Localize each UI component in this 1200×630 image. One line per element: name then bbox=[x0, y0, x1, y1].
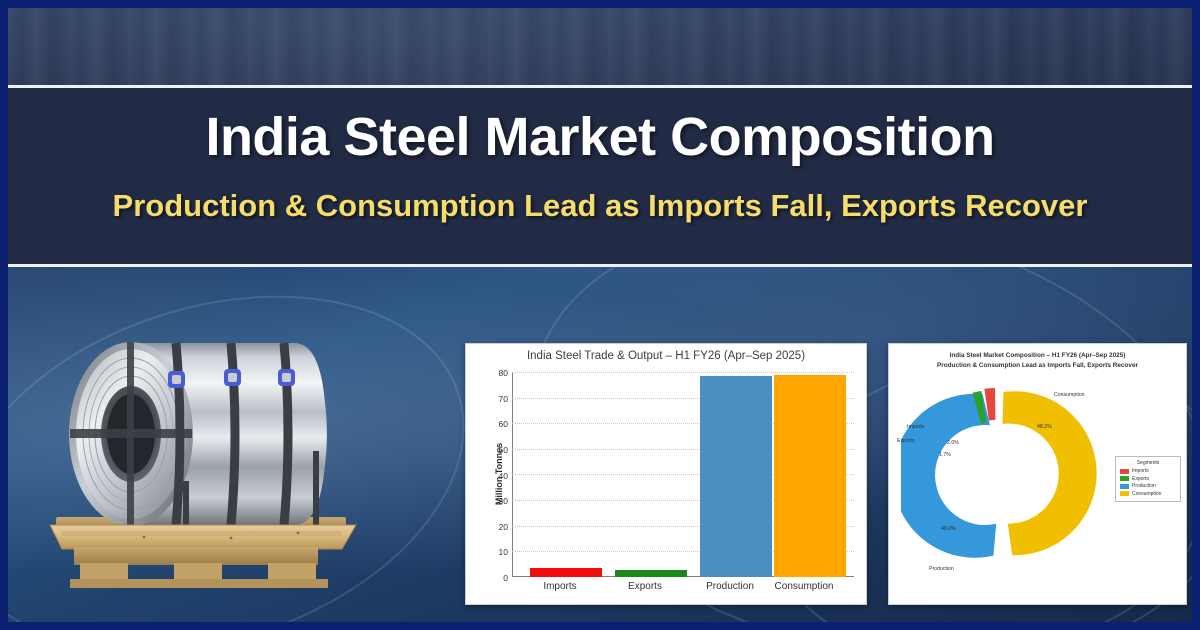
legend-label-production: Production bbox=[1132, 483, 1156, 489]
header-divider-top bbox=[8, 85, 1192, 88]
page-title: India Steel Market Composition bbox=[205, 110, 994, 164]
ytick-70: 70 bbox=[486, 394, 508, 404]
ytick-30: 30 bbox=[486, 496, 508, 506]
xtick-consumption: Consumption bbox=[754, 581, 854, 592]
bar-production[interactable] bbox=[700, 376, 772, 577]
bar-imports[interactable] bbox=[530, 568, 602, 577]
legend-title: Segments bbox=[1120, 460, 1176, 466]
ytick-10: 10 bbox=[486, 547, 508, 557]
donut-label-consumption: Consumption bbox=[1054, 392, 1085, 398]
legend-swatch-exports bbox=[1120, 476, 1129, 481]
donut-chart-panel[interactable]: India Steel Market Composition – H1 FY26… bbox=[888, 343, 1187, 605]
steel-coil-photo bbox=[26, 281, 416, 611]
legend-item-consumption[interactable]: Consumption bbox=[1120, 491, 1176, 497]
legend-swatch-production bbox=[1120, 484, 1129, 489]
donut-label-production: Production bbox=[929, 566, 954, 572]
bar-exports[interactable] bbox=[615, 570, 687, 578]
ytick-40: 40 bbox=[486, 471, 508, 481]
ytick-60: 60 bbox=[486, 419, 508, 429]
donut-legend[interactable]: Segments Imports Exports Production Cons… bbox=[1115, 456, 1181, 502]
donut-slice-consumption[interactable] bbox=[1003, 391, 1097, 555]
poster-root: India Steel Market Composition Productio… bbox=[0, 0, 1200, 630]
donut-svg bbox=[901, 374, 1111, 574]
gridline-80 bbox=[512, 372, 854, 373]
donut-label-exports: Exports bbox=[897, 438, 915, 444]
bar-chart-plot-area bbox=[512, 372, 854, 577]
bar-chart-panel[interactable]: India Steel Trade & Output – H1 FY26 (Ap… bbox=[465, 343, 867, 605]
ytick-20: 20 bbox=[486, 522, 508, 532]
legend-label-consumption: Consumption bbox=[1132, 491, 1161, 497]
donut-pct-exports: 1.7% bbox=[939, 452, 951, 458]
legend-item-exports[interactable]: Exports bbox=[1120, 476, 1176, 482]
bar-consumption[interactable] bbox=[774, 375, 846, 578]
header-divider-bottom bbox=[8, 264, 1192, 267]
donut-label-imports: Imports bbox=[907, 424, 924, 430]
legend-label-imports: Imports bbox=[1132, 468, 1149, 474]
body-area: India Steel Trade & Output – H1 FY26 (Ap… bbox=[8, 267, 1192, 622]
legend-item-imports[interactable]: Imports bbox=[1120, 468, 1176, 474]
donut-pct-imports: 2.0% bbox=[947, 440, 959, 446]
donut-chart-subtitle: Production & Consumption Lead as Imports… bbox=[889, 362, 1186, 371]
legend-label-exports: Exports bbox=[1132, 476, 1149, 482]
ytick-50: 50 bbox=[486, 445, 508, 455]
title-block: India Steel Market Composition Productio… bbox=[8, 88, 1192, 264]
bar-chart-title: India Steel Trade & Output – H1 FY26 (Ap… bbox=[466, 350, 866, 362]
legend-swatch-imports bbox=[1120, 469, 1129, 474]
legend-swatch-consumption bbox=[1120, 491, 1129, 496]
donut-chart-title: India Steel Market Composition – H1 FY26… bbox=[889, 352, 1186, 361]
donut-pct-production: 48.0% bbox=[941, 526, 956, 532]
legend-item-production[interactable]: Production bbox=[1120, 483, 1176, 489]
ytick-80: 80 bbox=[486, 368, 508, 378]
page-subtitle: Production & Consumption Lead as Imports… bbox=[113, 190, 1088, 221]
ytick-0: 0 bbox=[486, 573, 508, 583]
donut-pct-consumption: 48.2% bbox=[1037, 424, 1052, 430]
